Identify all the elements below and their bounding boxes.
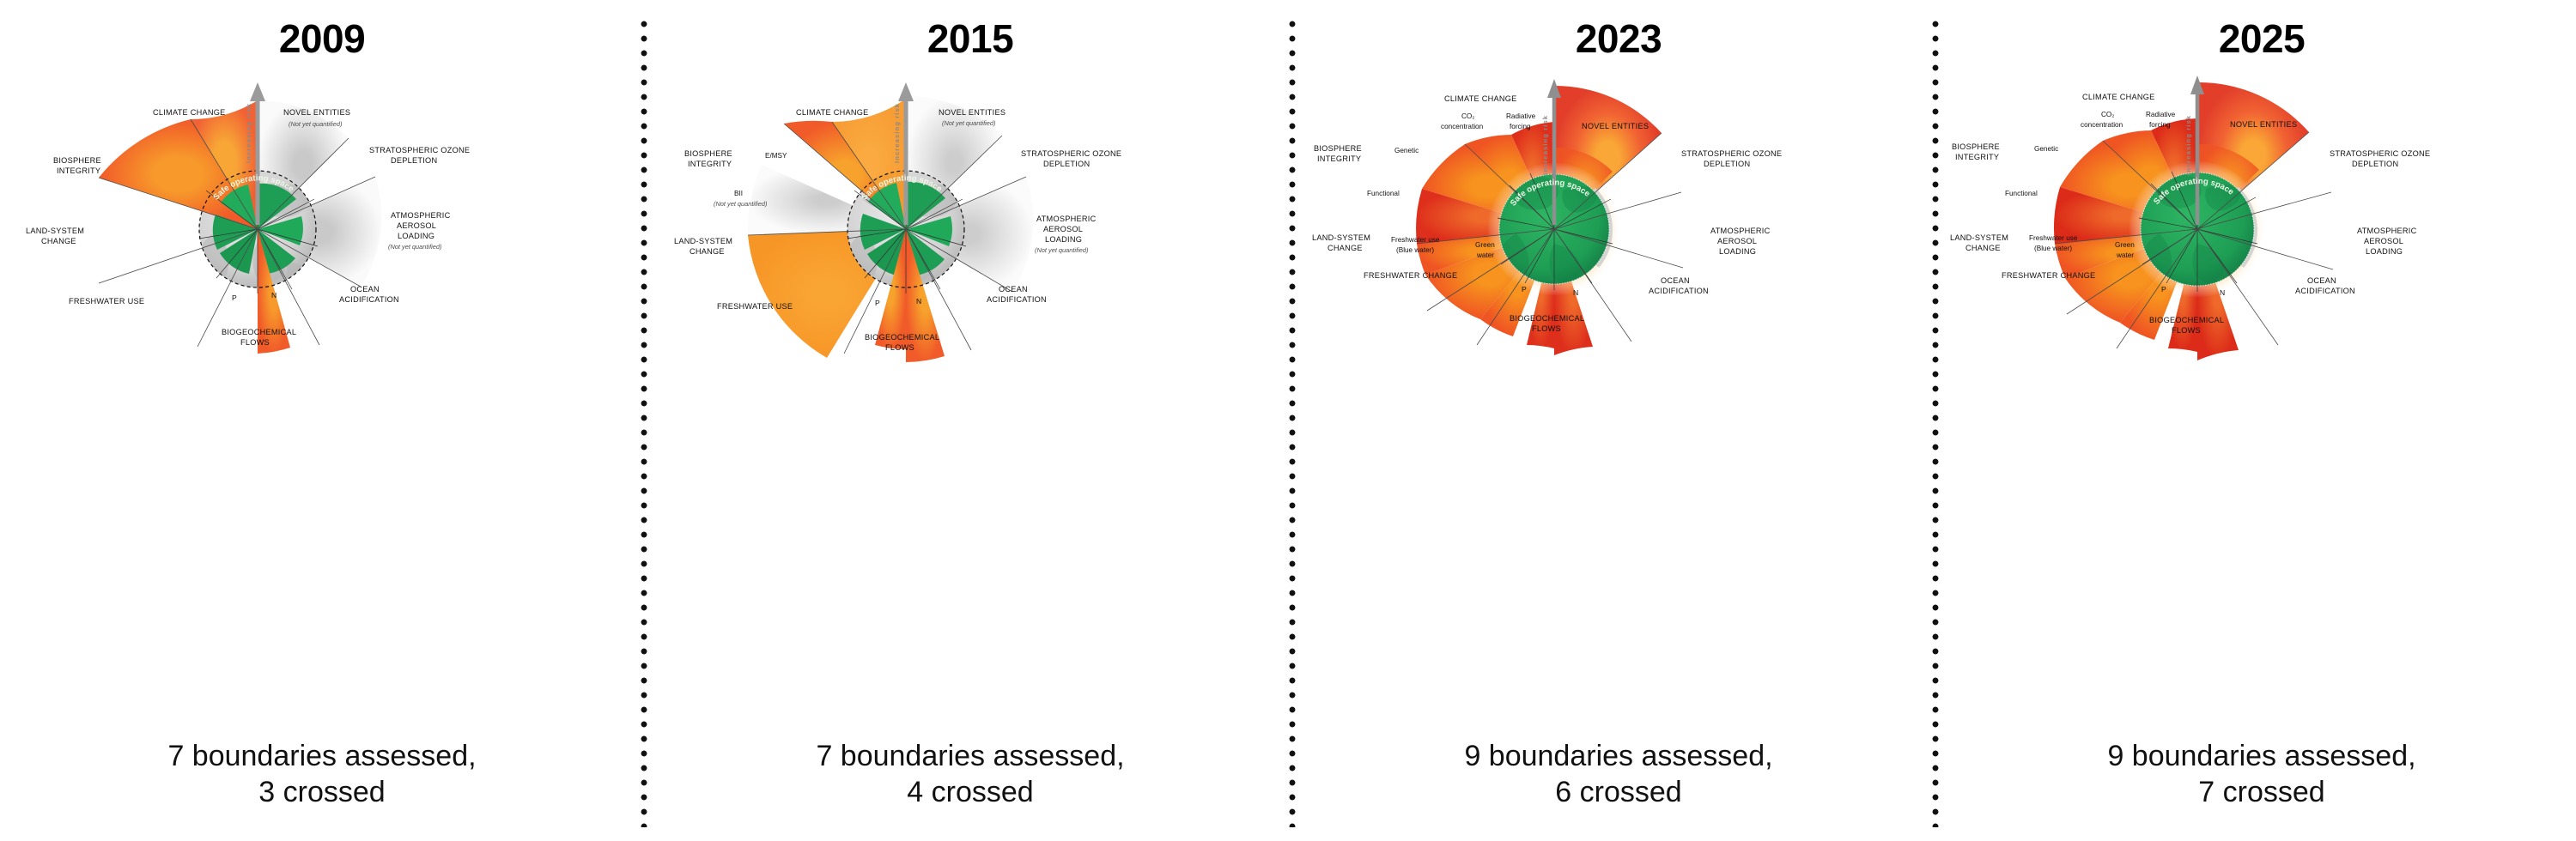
label-biosphere-line2: INTEGRITY: [57, 166, 100, 175]
caption-line1: 9 boundaries assessed,: [1297, 739, 1941, 774]
label-co2-line1: CO₂: [1461, 112, 1474, 120]
label-freshwater-change: FRESHWATER CHANGE: [2002, 271, 2095, 280]
label-ozone-line2: DEPLETION: [2352, 160, 2398, 168]
label-aerosol-line3: LOADING: [398, 232, 434, 240]
label-novel-entities: NOVEL ENTITIES: [1582, 122, 1649, 130]
label-radiative-line2: forcing: [2149, 121, 2171, 129]
label-green-water-line2: water: [1476, 251, 1494, 259]
label-aerosol-line2: AEROSOL: [2364, 237, 2403, 245]
increasing-risk-label: Increasing risk: [1541, 115, 1549, 175]
caption-line2: 6 crossed: [1297, 775, 1941, 810]
label-freshwater-use: FRESHWATER USE: [69, 297, 144, 306]
label-climate-change: CLIMATE CHANGE: [2082, 93, 2155, 101]
label-novel-entities: NOVEL ENTITIES: [2230, 120, 2297, 129]
label-biogeochemical-line1: BIOGEOCHEMICAL: [1510, 314, 1584, 323]
label-aerosol-line1: ATMOSPHERIC: [1036, 215, 1097, 223]
label-land-system-line1: LAND-SYSTEM: [26, 227, 84, 235]
label-ocean-line2: ACIDIFICATION: [339, 295, 399, 304]
radar-diagram-2023: Increasing risk Safe operating space CLI…: [1297, 62, 1941, 371]
label-co2-line2: concentration: [2081, 121, 2123, 129]
caption-line2: 4 crossed: [648, 775, 1292, 810]
label-n: N: [1573, 288, 1578, 297]
label-freshwater-blue-line2: (Blue water): [1396, 246, 1434, 254]
label-land-system-line1: LAND-SYSTEM: [1312, 233, 1370, 242]
label-n: N: [271, 291, 276, 299]
label-biosphere-line2: INTEGRITY: [1955, 153, 1999, 161]
label-land-system-line2: CHANGE: [690, 247, 725, 256]
label-ozone-line2: DEPLETION: [1704, 160, 1750, 168]
label-p: P: [1522, 285, 1527, 293]
panel-divider-1: [641, 21, 647, 827]
caption-2015: 7 boundaries assessed, 4 crossed: [648, 739, 1292, 810]
radar-diagram-2025: Increasing risk Safe operating space CLI…: [1940, 62, 2576, 371]
panel-2025: 2025: [1940, 0, 2576, 841]
label-ozone-line1: STRATOSPHERIC OZONE: [2330, 149, 2430, 158]
label-ocean-line1: OCEAN: [350, 285, 380, 293]
label-ozone-line2: DEPLETION: [1043, 160, 1090, 168]
label-freshwater-change: FRESHWATER CHANGE: [1364, 271, 1457, 280]
label-biogeochemical-line2: FLOWS: [2172, 326, 2201, 335]
label-novel-entities-note: (Not yet quantified): [289, 120, 343, 128]
label-land-system-line1: LAND-SYSTEM: [674, 237, 732, 245]
label-ocean-line1: OCEAN: [1661, 276, 1690, 285]
label-green-water-line1: Green: [2115, 241, 2135, 249]
label-biogeochemical-line1: BIOGEOCHEMICAL: [865, 333, 939, 342]
label-climate-change: CLIMATE CHANGE: [153, 108, 226, 117]
label-land-system-line2: CHANGE: [1327, 244, 1363, 252]
label-aerosol-note: (Not yet quantified): [1035, 246, 1089, 254]
label-biosphere-line2: INTEGRITY: [688, 160, 732, 168]
caption-line1: 9 boundaries assessed,: [1940, 739, 2576, 774]
label-radiative-line1: Radiative: [1506, 112, 1536, 120]
caption-line1: 7 boundaries assessed,: [648, 739, 1292, 774]
radar-svg-2025: Increasing risk Safe operating space CLI…: [1940, 62, 2576, 371]
label-freshwater-blue-line2: (Blue water): [2034, 245, 2072, 252]
radar-diagram-2015: Increasing risk Safe operating space CLI…: [648, 62, 1292, 371]
label-freshwater-blue-line1: Freshwater use: [2029, 234, 2078, 242]
label-land-system-line2: CHANGE: [41, 237, 76, 245]
label-ocean-line1: OCEAN: [999, 285, 1028, 293]
label-aerosol-line3: LOADING: [1719, 247, 1756, 256]
label-aerosol-line1: ATMOSPHERIC: [1710, 227, 1771, 235]
label-bii-note: (Not yet quantified): [714, 200, 768, 208]
radar-svg-2009: Increasing risk Safe operating space CLI…: [0, 62, 644, 371]
panel-title-2025: 2025: [1940, 15, 2576, 62]
label-n: N: [2220, 288, 2225, 297]
label-radiative-line1: Radiative: [2146, 111, 2176, 118]
label-ocean-line1: OCEAN: [2307, 276, 2336, 285]
panel-title-2009: 2009: [0, 15, 644, 62]
label-genetic: Genetic: [1394, 147, 1419, 154]
caption-line1: 7 boundaries assessed,: [0, 739, 644, 774]
label-novel-entities: NOVEL ENTITIES: [283, 108, 350, 117]
label-functional: Functional: [2005, 190, 2038, 197]
label-biogeochemical-line2: FLOWS: [885, 343, 914, 352]
label-novel-entities: NOVEL ENTITIES: [939, 108, 1005, 117]
label-aerosol-line2: AEROSOL: [397, 221, 436, 230]
label-aerosol-note: (Not yet quantified): [388, 243, 442, 251]
panel-2015: 2015: [648, 0, 1292, 841]
label-co2-line2: concentration: [1441, 123, 1484, 130]
label-aerosol-line3: LOADING: [2366, 247, 2403, 256]
label-emsy: E/MSY: [765, 152, 787, 160]
label-biogeochemical-line2: FLOWS: [1532, 324, 1561, 333]
label-bii: BII: [734, 190, 743, 197]
increasing-risk-label: Increasing risk: [2184, 115, 2192, 175]
label-aerosol-line1: ATMOSPHERIC: [391, 211, 451, 220]
label-ocean-line2: ACIDIFICATION: [2295, 287, 2355, 295]
radar-diagram-2009: Increasing risk Safe operating space CLI…: [0, 62, 644, 371]
label-biogeochemical-line1: BIOGEOCHEMICAL: [2149, 316, 2224, 324]
label-aerosol-line2: AEROSOL: [1717, 237, 1757, 245]
label-ocean-line2: ACIDIFICATION: [1649, 287, 1709, 295]
panel-divider-2: [1289, 21, 1296, 827]
label-biosphere-line1: BIOSPHERE: [1952, 142, 2000, 151]
label-green-water-line1: Green: [1475, 241, 1495, 249]
label-n: N: [916, 297, 921, 306]
caption-2023: 9 boundaries assessed, 6 crossed: [1297, 739, 1941, 810]
label-ozone-line1: STRATOSPHERIC OZONE: [1021, 149, 1121, 158]
radar-svg-2015: Increasing risk Safe operating space CLI…: [648, 62, 1292, 371]
label-biosphere-line1: BIOSPHERE: [684, 149, 732, 158]
panel-2009: 2009: [0, 0, 644, 841]
increasing-risk-label: Increasing risk: [245, 103, 252, 163]
label-radiative-line2: forcing: [1510, 123, 1531, 130]
radar-svg-2023: Increasing risk Safe operating space CLI…: [1297, 62, 1941, 371]
label-biosphere-line1: BIOSPHERE: [1314, 144, 1362, 153]
label-aerosol-line3: LOADING: [1045, 235, 1082, 244]
panel-title-2023: 2023: [1297, 15, 1941, 62]
label-aerosol-line2: AEROSOL: [1043, 225, 1083, 233]
panel-title-2015: 2015: [648, 15, 1292, 62]
increasing-risk-label: Increasing risk: [893, 103, 901, 163]
panel-2023: 2023: [1297, 0, 1941, 841]
figure-canvas: 2009: [0, 0, 2576, 841]
label-ozone-line2: DEPLETION: [391, 156, 437, 165]
label-freshwater-blue-line1: Freshwater use: [1391, 236, 1440, 244]
label-aerosol-line1: ATMOSPHERIC: [2357, 227, 2417, 235]
label-genetic: Genetic: [2034, 145, 2058, 153]
label-ozone-line1: STRATOSPHERIC OZONE: [369, 146, 470, 154]
caption-2009: 7 boundaries assessed, 3 crossed: [0, 739, 644, 810]
label-biosphere-line2: INTEGRITY: [1317, 154, 1361, 163]
caption-line2: 7 crossed: [1940, 775, 2576, 810]
label-co2-line1: CO₂: [2101, 111, 2114, 118]
label-green-water-line2: water: [2116, 251, 2134, 259]
label-functional: Functional: [1367, 190, 1400, 197]
caption-line2: 3 crossed: [0, 775, 644, 810]
label-ocean-line2: ACIDIFICATION: [987, 295, 1047, 304]
label-biogeochemical-line1: BIOGEOCHEMICAL: [222, 328, 296, 336]
label-p: P: [875, 299, 880, 307]
label-p: P: [232, 293, 237, 302]
label-freshwater-use: FRESHWATER USE: [717, 302, 793, 311]
label-climate-change: CLIMATE CHANGE: [1444, 94, 1517, 103]
label-biosphere-line1: BIOSPHERE: [53, 156, 101, 165]
panel-divider-3: [1932, 21, 1939, 827]
caption-2025: 9 boundaries assessed, 7 crossed: [1940, 739, 2576, 810]
label-ozone-line1: STRATOSPHERIC OZONE: [1681, 149, 1782, 158]
label-climate-change: CLIMATE CHANGE: [796, 108, 869, 117]
label-novel-entities-note: (Not yet quantified): [942, 119, 996, 127]
label-p: P: [2161, 285, 2166, 293]
label-land-system-line1: LAND-SYSTEM: [1950, 233, 2008, 242]
label-biogeochemical-line2: FLOWS: [240, 338, 270, 347]
label-land-system-line2: CHANGE: [1965, 244, 2001, 252]
